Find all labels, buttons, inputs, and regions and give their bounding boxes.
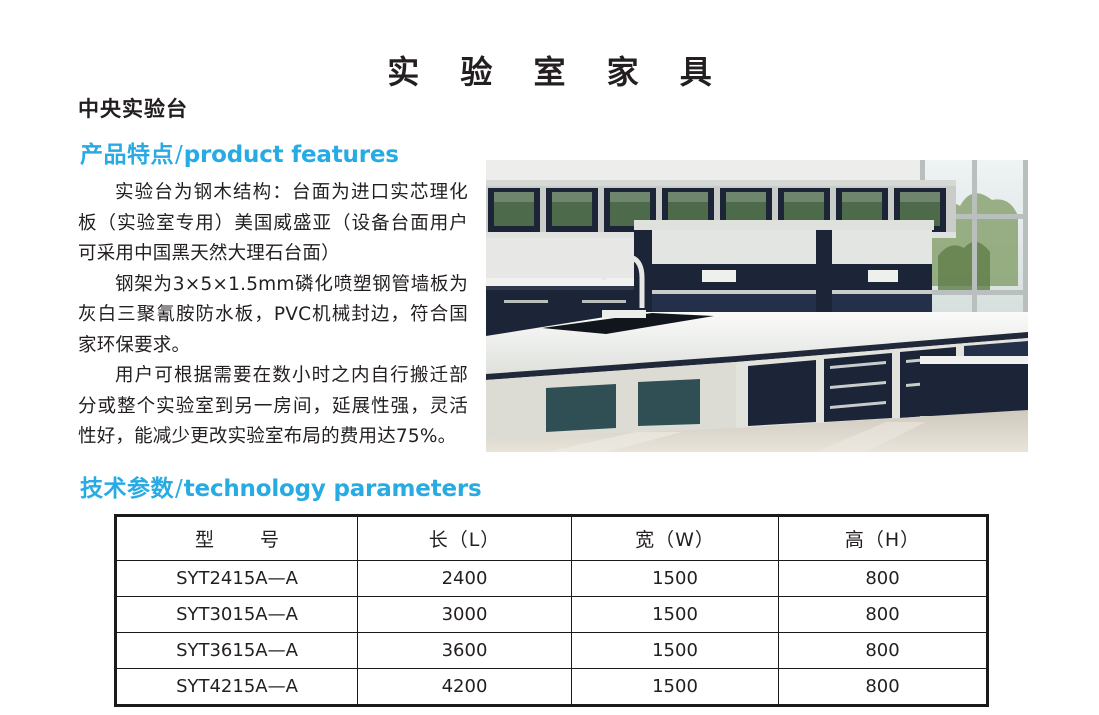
table-header-height: 高（H） [779,516,988,561]
table-header-model-right: 号 [260,529,279,551]
table-header-row: 型号 长（L） 宽（W） 高（H） [116,516,988,561]
features-paragraph-1: 实验台为钢木结构：台面为进口实芯理化板（实验室专用）美国威盛亚（设备台面用户可采… [78,178,468,270]
features-paragraph-2: 钢架为3×5×1.5mm磷化喷塑钢管墙板为灰白三聚氰胺防水板，PVC机械封边，符… [78,270,468,362]
spec-table-container: 型号 长（L） 宽（W） 高（H） SYT2415A—A 2400 1500 8… [114,514,980,707]
section-heading-features-slash: / [174,142,184,168]
table-row: SYT3615A—A 3600 1500 800 [116,633,988,669]
table-row: SYT3015A—A 3000 1500 800 [116,597,988,633]
cell-model: SYT3615A—A [116,633,358,669]
cell-width: 1500 [572,669,779,706]
section-heading-features-en: product features [184,142,399,168]
cell-model: SYT4215A—A [116,669,358,706]
page-root: 实 验 室 家 具 中央实验台 产品特点/product features 实验… [0,0,1099,715]
section-heading-parameters-cn: 技术参数 [80,476,174,502]
cell-model: SYT3015A—A [116,597,358,633]
table-header-length: 长（L） [358,516,572,561]
table-row: SYT2415A—A 2400 1500 800 [116,561,988,597]
features-paragraph-3: 用户可根据需要在数小时之内自行搬迁部分或整个实验室到另一房间，延展性强，灵活性好… [78,361,468,453]
section-heading-features: 产品特点/product features [80,140,399,170]
cell-length: 3000 [358,597,572,633]
cell-length: 3600 [358,633,572,669]
cell-model: SYT2415A—A [116,561,358,597]
cell-width: 1500 [572,561,779,597]
section-heading-features-cn: 产品特点 [80,142,174,168]
cell-height: 800 [779,669,988,706]
spec-table: 型号 长（L） 宽（W） 高（H） SYT2415A—A 2400 1500 8… [114,514,989,707]
section-heading-parameters-en: technology parameters [184,476,482,502]
section-heading-parameters-slash: / [174,476,184,502]
cell-length: 2400 [358,561,572,597]
table-header-model-left: 型 [195,529,214,551]
cell-height: 800 [779,597,988,633]
table-header-model: 型号 [116,516,358,561]
product-subtitle: 中央实验台 [78,95,188,123]
cell-height: 800 [779,633,988,669]
laboratory-photo [486,160,1028,452]
section-heading-parameters: 技术参数/technology parameters [80,474,482,504]
features-body: 实验台为钢木结构：台面为进口实芯理化板（实验室专用）美国威盛亚（设备台面用户可采… [78,178,468,453]
spec-table-body: 型号 长（L） 宽（W） 高（H） SYT2415A—A 2400 1500 8… [116,516,988,706]
cell-length: 4200 [358,669,572,706]
cell-width: 1500 [572,597,779,633]
laboratory-photo-svg [486,160,1028,452]
table-row: SYT4215A—A 4200 1500 800 [116,669,988,706]
cell-width: 1500 [572,633,779,669]
table-header-width: 宽（W） [572,516,779,561]
cell-height: 800 [779,561,988,597]
page-title: 实 验 室 家 具 [0,52,1099,92]
